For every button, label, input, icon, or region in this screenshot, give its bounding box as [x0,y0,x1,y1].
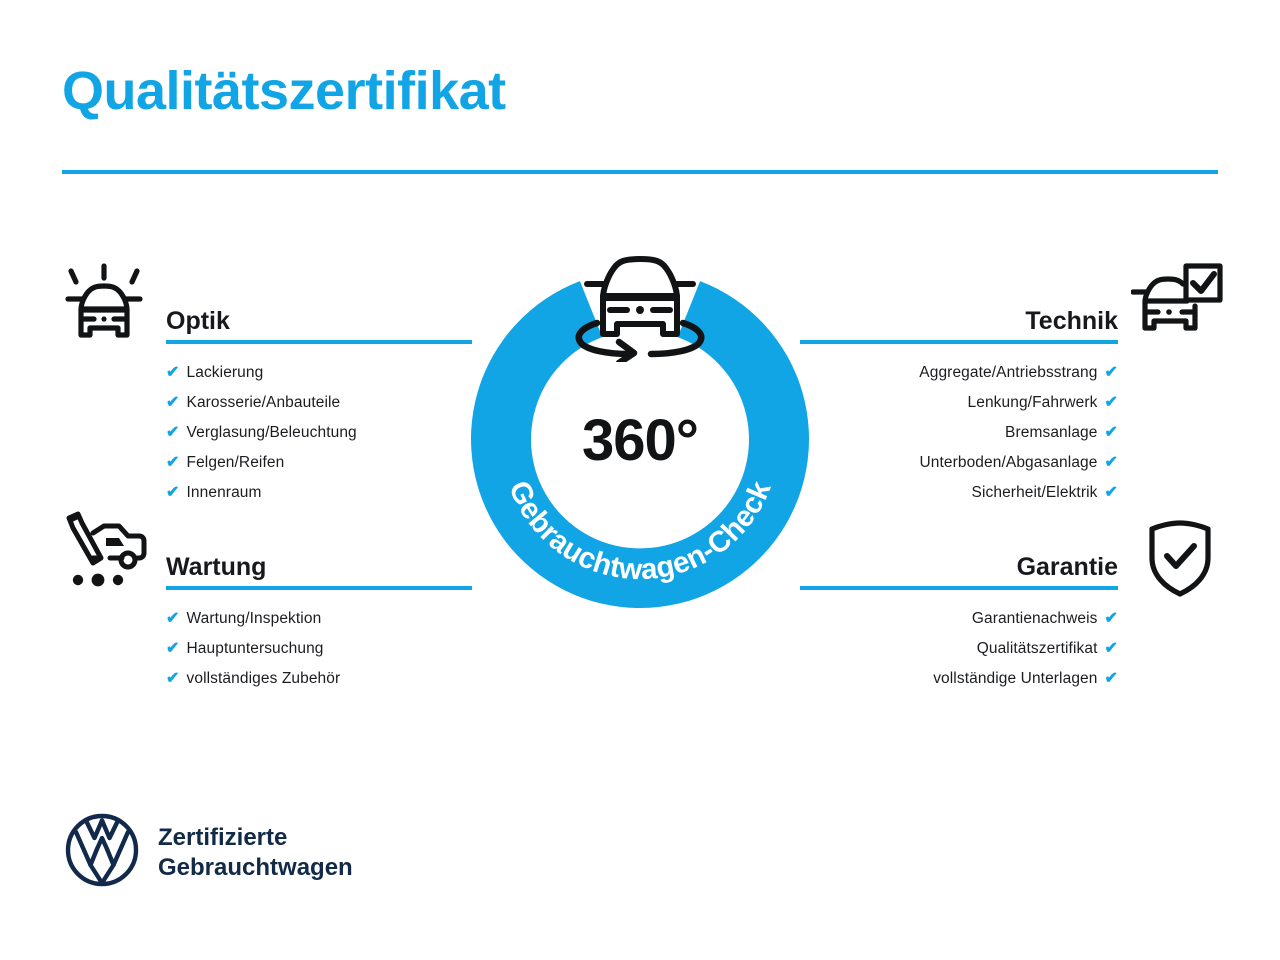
list-item: Unterboden/Abgasanlage ✔ [800,448,1118,478]
footer-brand-line1: Zertifizierte [158,823,353,852]
car-front-shine-icon [60,258,148,351]
check-icon: ✔ [166,485,180,501]
list-item-label: Garantienachweis [972,604,1098,634]
gebrauchtwagen-check-badge: Gebrauchtwagen-Check 360° [466,266,814,614]
section-optik-title: Optik [166,309,230,334]
section-garantie-list: Garantienachweis ✔ Qualitätszertifikat ✔… [800,604,1118,694]
check-icon: ✔ [166,365,180,381]
check-icon: ✔ [166,641,180,657]
list-item: ✔ Lackierung [166,358,472,388]
check-icon: ✔ [166,611,180,627]
page-title: Qualitätszertifikat [62,62,506,121]
list-item-label: Felgen/Reifen [187,448,285,478]
list-item: ✔ vollständiges Zubehör [166,664,472,694]
check-icon: ✔ [1104,671,1118,687]
section-optik: Optik ✔ Lackierung ✔ Karosserie/Anbautei… [166,296,472,508]
list-item: ✔ Wartung/Inspektion [166,604,472,634]
section-technik-title: Technik [1025,309,1118,334]
list-item-label: Innenraum [187,478,262,508]
check-icon: ✔ [166,425,180,441]
section-garantie-header: Garantie [800,542,1118,590]
section-wartung-header: Wartung [166,542,472,590]
check-icon: ✔ [1104,455,1118,471]
check-icon: ✔ [1104,395,1118,411]
check-icon: ✔ [166,395,180,411]
section-wartung-divider [166,586,472,590]
list-item: ✔ Verglasung/Beleuchtung [166,418,472,448]
list-item-label: Karosserie/Anbauteile [187,388,341,418]
list-item-label: Aggregate/Antriebsstrang [919,358,1097,388]
check-icon: ✔ [1104,641,1118,657]
footer-brand-text: Zertifizierte Gebrauchtwagen [158,823,353,882]
check-icon: ✔ [1104,425,1118,441]
section-wartung: Wartung ✔ Wartung/Inspektion ✔ Hauptunte… [166,542,472,694]
section-wartung-list: ✔ Wartung/Inspektion ✔ Hauptuntersuchung… [166,604,472,694]
list-item: vollständige Unterlagen ✔ [800,664,1118,694]
list-item: Bremsanlage ✔ [800,418,1118,448]
list-item: Aggregate/Antriebsstrang ✔ [800,358,1118,388]
section-garantie: Garantie Garantienachweis ✔ Qualitätszer… [800,542,1118,694]
list-item: Garantienachweis ✔ [800,604,1118,634]
list-item-label: vollständiges Zubehör [187,664,341,694]
section-technik-header: Technik [800,296,1118,344]
section-optik-divider [166,340,472,344]
list-item-label: vollständige Unterlagen [933,664,1097,694]
list-item-label: Hauptuntersuchung [187,634,324,664]
list-item-label: Verglasung/Beleuchtung [187,418,357,448]
check-icon: ✔ [1104,611,1118,627]
header-divider [62,170,1218,174]
section-optik-header: Optik [166,296,472,344]
list-item: Qualitätszertifikat ✔ [800,634,1118,664]
list-item: Sicherheit/Elektrik ✔ [800,478,1118,508]
list-item-label: Lackierung [187,358,264,388]
footer-brand-line2: Gebrauchtwagen [158,853,353,882]
section-technik-list: Aggregate/Antriebsstrang ✔ Lenkung/Fahrw… [800,358,1118,508]
car-checkbox-icon [1131,262,1223,347]
vw-logo-icon [64,812,140,893]
section-garantie-divider [800,586,1118,590]
list-item: ✔ Felgen/Reifen [166,448,472,478]
list-item-label: Unterboden/Abgasanlage [919,448,1097,478]
list-item: ✔ Hauptuntersuchung [166,634,472,664]
check-icon: ✔ [166,455,180,471]
list-item-label: Sicherheit/Elektrik [972,478,1098,508]
footer-brand-logo: Zertifizierte Gebrauchtwagen [64,812,353,893]
section-technik: Technik Aggregate/Antriebsstrang ✔ Lenku… [800,296,1118,508]
list-item-label: Qualitätszertifikat [977,634,1098,664]
list-item-label: Wartung/Inspektion [187,604,322,634]
list-item-label: Lenkung/Fahrwerk [968,388,1098,418]
section-garantie-title: Garantie [1017,555,1118,580]
list-item: ✔ Karosserie/Anbauteile [166,388,472,418]
check-icon: ✔ [1104,485,1118,501]
car-front-rotate-icon [567,246,713,367]
list-item-label: Bremsanlage [1005,418,1097,448]
list-item: Lenkung/Fahrwerk ✔ [800,388,1118,418]
list-item: ✔ Innenraum [166,478,472,508]
section-wartung-title: Wartung [166,555,266,580]
section-technik-divider [800,340,1118,344]
section-optik-list: ✔ Lackierung ✔ Karosserie/Anbauteile ✔ V… [166,358,472,508]
check-icon: ✔ [166,671,180,687]
service-tool-car-icon [60,508,148,595]
check-icon: ✔ [1104,365,1118,381]
shield-check-icon [1145,518,1215,603]
